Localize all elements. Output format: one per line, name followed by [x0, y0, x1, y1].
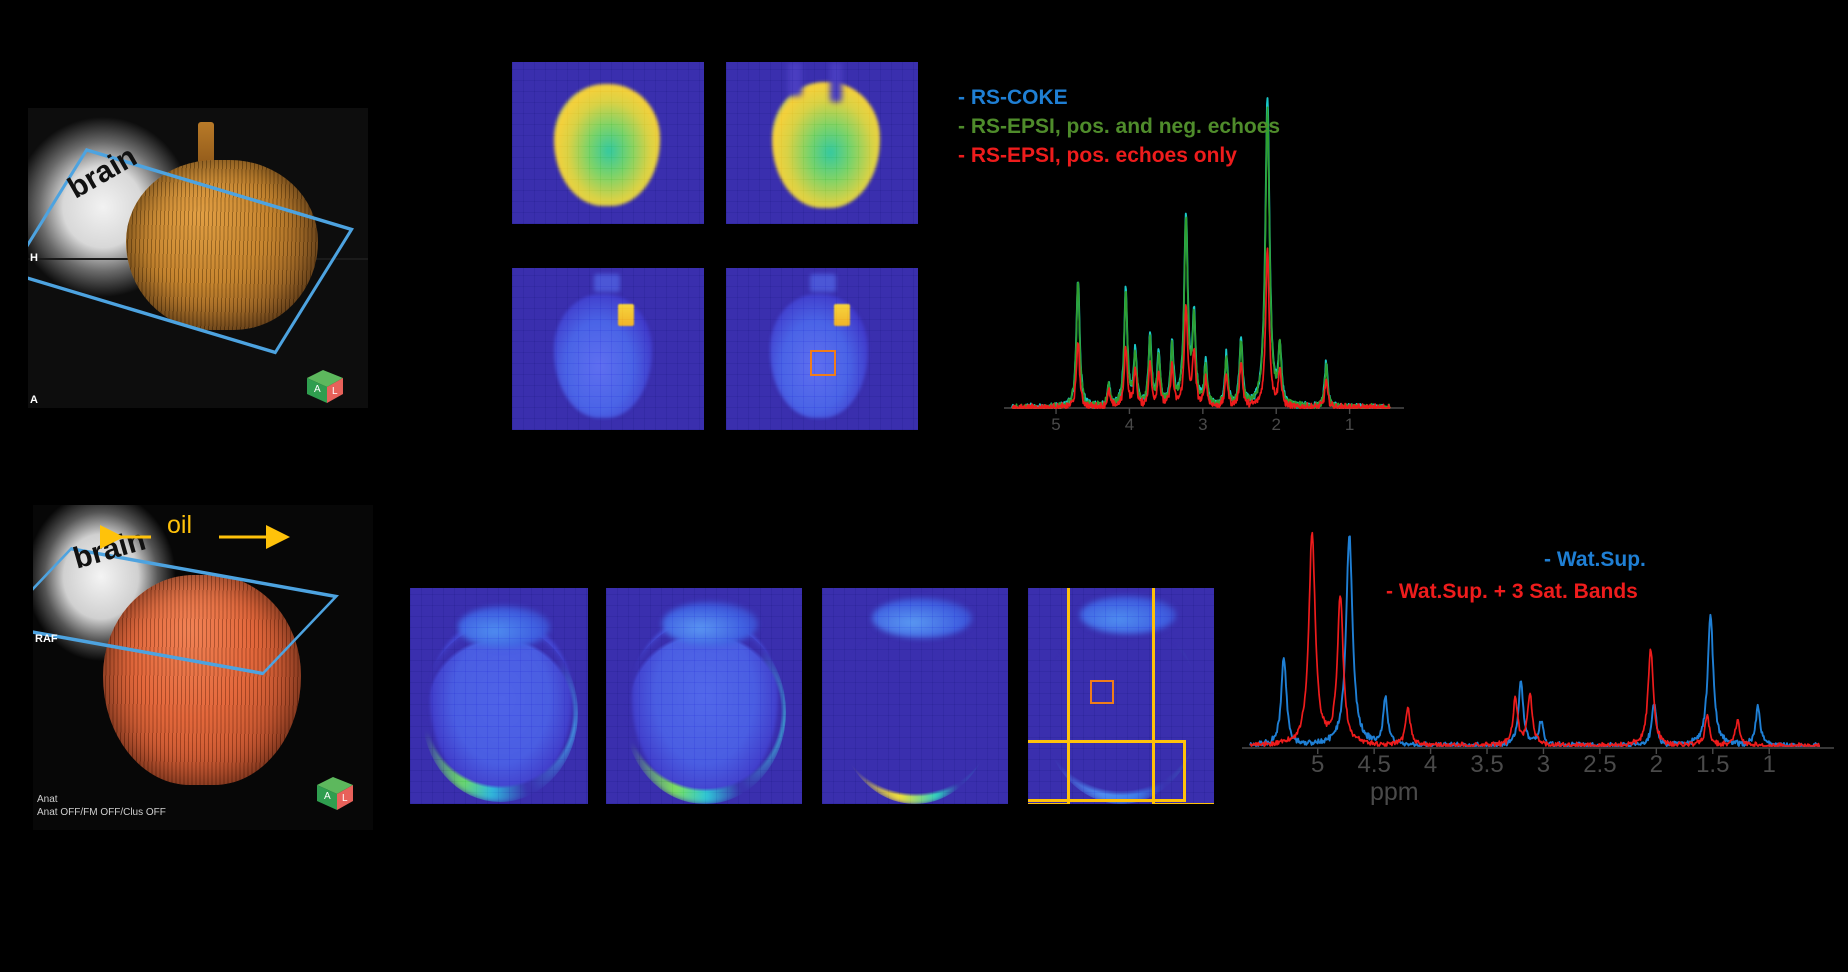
svg-text:1: 1 [1345, 415, 1354, 434]
mrsi-tile-2[interactable] [726, 62, 918, 224]
saturation-band-bottom[interactable] [1028, 740, 1186, 802]
mrsi-strip-tile-1[interactable] [410, 588, 588, 804]
svg-text:L: L [342, 793, 348, 804]
svg-text:4.5: 4.5 [1357, 751, 1390, 778]
top-spectrum-panel[interactable]: - RS-COKE - RS-EPSI, pos. and neg. echoe… [950, 78, 1420, 434]
svg-text:1.5: 1.5 [1696, 751, 1729, 778]
orientation-marker-a: A [30, 394, 38, 406]
voxel-roi-box[interactable] [810, 350, 836, 376]
mrsi-strip-tile-2[interactable] [606, 588, 802, 804]
orientation-cube-icon[interactable]: A L [303, 366, 347, 406]
legend-dash: - [958, 115, 965, 138]
mrsi-strip-tile-3[interactable] [822, 588, 1008, 804]
ppm-axis-label: ppm [1370, 778, 1419, 807]
legend-wat-sup: - Wat.Sup. [1544, 548, 1646, 572]
svg-text:2.5: 2.5 [1583, 751, 1616, 778]
svg-text:L: L [332, 386, 338, 397]
voxel-grid-overlay [726, 268, 918, 430]
legend-wat-sup-sat: - Wat.Sup. + 3 Sat. Bands [1386, 580, 1638, 604]
bottom-spectrum-panel[interactable]: - Wat.Sup. - Wat.Sup. + 3 Sat. Bands 54.… [1228, 520, 1838, 960]
mrsi-tile-1[interactable] [512, 62, 704, 224]
voxel-grid-overlay [822, 588, 1008, 804]
bottom-mrsi-strip [410, 588, 1214, 804]
voxel-grid-overlay [606, 588, 802, 804]
svg-text:4: 4 [1424, 751, 1437, 778]
legend-dash: - [958, 86, 965, 109]
bottom-3d-render-panel[interactable]: brain oil RAF Anat Anat OFF/FM OFF/Clus … [33, 505, 373, 830]
voxel-grid-overlay [512, 62, 704, 224]
mrsi-strip-tile-4[interactable] [1028, 588, 1214, 804]
legend-rs-coke: - RS-COKE [958, 86, 1068, 110]
svg-text:2: 2 [1271, 415, 1280, 434]
anat-status-line-1: Anat [37, 793, 58, 806]
voxel-grid-overlay [726, 62, 918, 224]
svg-text:2: 2 [1650, 751, 1663, 778]
legend-label: RS-COKE [971, 86, 1068, 109]
legend-label: Wat.Sup. + 3 Sat. Bands [1399, 580, 1638, 603]
voxel-grid-overlay [512, 268, 704, 430]
top-mrsi-grid [512, 62, 918, 430]
svg-text:1: 1 [1763, 751, 1776, 778]
voxel-grid-overlay [410, 588, 588, 804]
legend-rs-epsi-posneg: - RS-EPSI, pos. and neg. echoes [958, 115, 1280, 139]
oil-arrow-icon [55, 515, 315, 555]
legend-dash: - [1386, 580, 1393, 603]
svg-text:4: 4 [1125, 415, 1134, 434]
legend-label: RS-EPSI, pos. and neg. echoes [971, 115, 1280, 138]
legend-rs-epsi-pos: - RS-EPSI, pos. echoes only [958, 144, 1237, 168]
orientation-marker-raf: RAF [35, 633, 58, 645]
mrsi-tile-4[interactable] [726, 268, 918, 430]
legend-dash: - [958, 144, 965, 167]
orientation-cube-icon[interactable]: A L [313, 773, 357, 813]
voxel-roi-box[interactable] [1090, 680, 1114, 704]
svg-text:5: 5 [1051, 415, 1060, 434]
svg-text:3: 3 [1198, 415, 1207, 434]
orientation-marker-h: H [30, 252, 38, 264]
svg-text:3.5: 3.5 [1470, 751, 1503, 778]
svg-text:A: A [324, 791, 331, 802]
svg-text:A: A [314, 384, 321, 395]
legend-dash: - [1544, 548, 1551, 571]
mrsi-tile-3[interactable] [512, 268, 704, 430]
svg-text:5: 5 [1311, 751, 1324, 778]
svg-text:3: 3 [1537, 751, 1550, 778]
legend-label: Wat.Sup. [1557, 548, 1646, 571]
anat-status-line-2: Anat OFF/FM OFF/Clus OFF [37, 806, 166, 819]
top-3d-render-panel[interactable]: brain H A A L [28, 108, 368, 408]
legend-label: RS-EPSI, pos. echoes only [971, 144, 1237, 167]
